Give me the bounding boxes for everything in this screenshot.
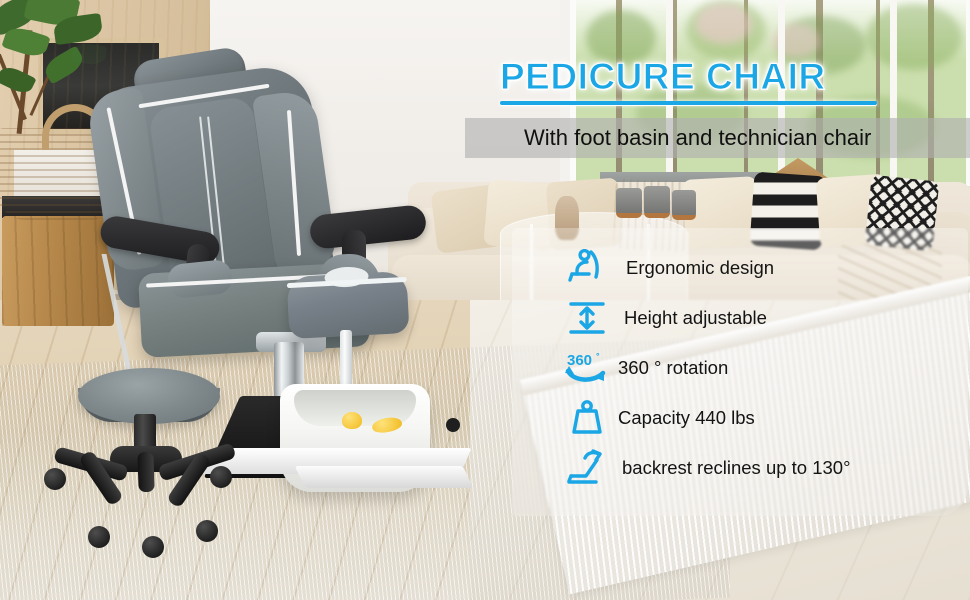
cup-2 (644, 186, 670, 218)
feature-360-rotation: 360 ° 360 ° rotation (556, 343, 968, 393)
recline-chair-icon (556, 448, 618, 488)
feature-label: Height adjustable (624, 307, 767, 329)
rotation-360-icon: 360 ° (556, 349, 618, 387)
feature-list: Ergonomic design Height adjustable 360 ° (556, 243, 968, 493)
stool-caster-4 (196, 520, 218, 542)
stool-caster-2 (210, 466, 232, 488)
cup-1 (616, 188, 642, 218)
feature-label: Ergonomic design (626, 257, 774, 279)
feature-label: backrest reclines up to 130° (622, 457, 851, 479)
promotional-product-image: PEDICURE CHAIR With foot basin and techn… (0, 0, 970, 600)
feature-label: Capacity 440 lbs (618, 407, 755, 429)
cup-3 (672, 190, 696, 220)
footrest-cushion (286, 271, 409, 339)
footrest-piping (287, 277, 407, 288)
chrome-side-rail (101, 254, 276, 372)
pedicure-chair (96, 40, 456, 400)
stool-leg-5 (137, 452, 154, 493)
stool-caster-3 (88, 526, 110, 548)
svg-text:360: 360 (567, 352, 592, 369)
height-adjust-arrows-icon (556, 298, 618, 338)
page-subtitle: With foot basin and technician chair (524, 125, 871, 151)
page-title: PEDICURE CHAIR (500, 56, 826, 98)
weight-capacity-icon (556, 398, 618, 438)
title-underline (500, 101, 877, 105)
feature-label: 360 ° rotation (618, 357, 728, 379)
stool-caster-1 (44, 468, 66, 490)
base-frame-side (295, 466, 474, 488)
svg-text:°: ° (596, 351, 600, 361)
feature-backrest-recline: backrest reclines up to 130° (556, 443, 968, 493)
seated-person-icon (556, 249, 618, 287)
lemon-slice-1 (342, 412, 362, 429)
feature-height-adjustable: Height adjustable (556, 293, 968, 343)
feature-capacity: Capacity 440 lbs (556, 393, 968, 443)
stool-caster-5 (142, 536, 164, 558)
basin-drain-knob (446, 418, 460, 432)
feature-ergonomic-design: Ergonomic design (556, 243, 968, 293)
